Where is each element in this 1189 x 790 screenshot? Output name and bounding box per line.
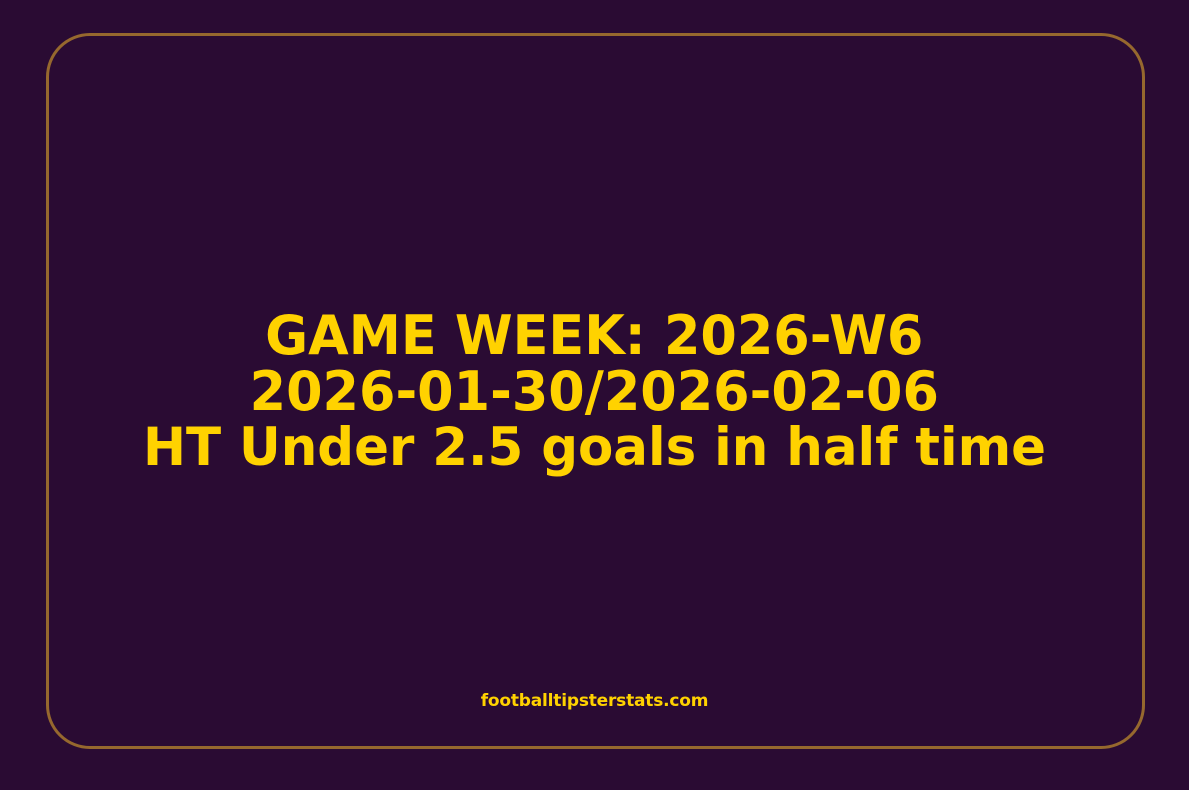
headline-line-market: HT Under 2.5 goals in half time xyxy=(143,420,1046,476)
headline-line-date-range: 2026-01-30/2026-02-06 xyxy=(250,364,939,420)
site-url-label: footballtipsterstats.com xyxy=(481,690,709,712)
headline-block: GAME WEEK: 2026-W6 2026-01-30/2026-02-06… xyxy=(0,0,1189,790)
footer: footballtipsterstats.com xyxy=(0,690,1189,712)
promo-banner: GAME WEEK: 2026-W6 2026-01-30/2026-02-06… xyxy=(0,0,1189,790)
headline-line-game-week: GAME WEEK: 2026-W6 xyxy=(265,308,923,364)
